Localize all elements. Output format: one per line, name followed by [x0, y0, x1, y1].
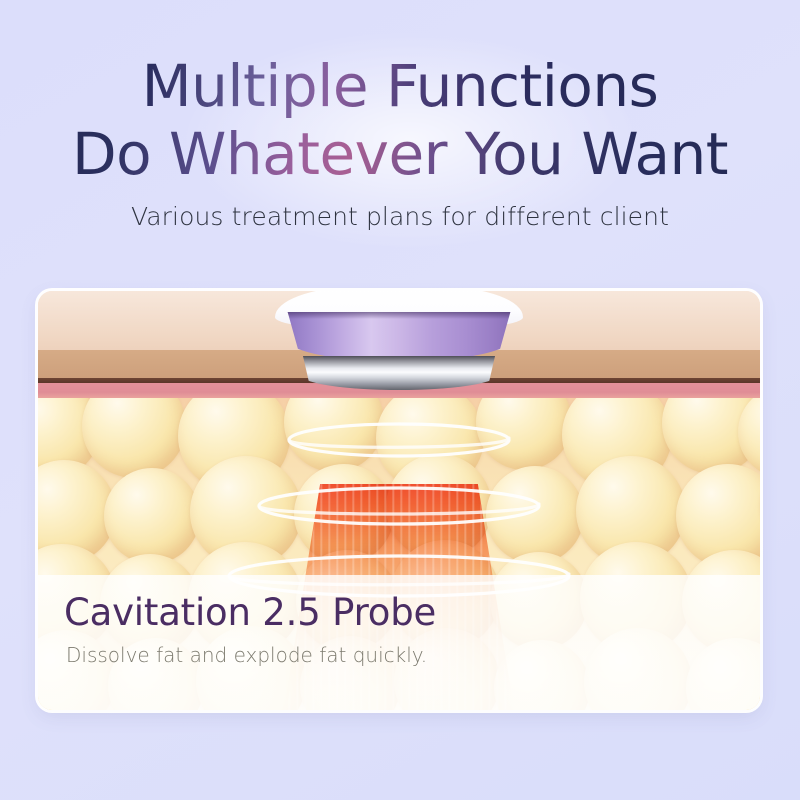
cavitation-probe-device: [275, 291, 523, 390]
probe-metal-ring: [301, 356, 497, 390]
header: Multiple Functions Do Whatever You Want …: [0, 52, 800, 231]
caption-subtitle: Dissolve fat and explode fat quickly.: [66, 643, 760, 667]
card-caption: Cavitation 2.5 Probe Dissolve fat and ex…: [38, 575, 760, 710]
caption-title: Cavitation 2.5 Probe: [64, 591, 760, 634]
product-feature-poster: Multiple Functions Do Whatever You Want …: [0, 0, 800, 800]
header-subtitle: Various treatment plans for different cl…: [0, 202, 800, 231]
headline-line-2: Do Whatever You Want: [0, 120, 800, 188]
feature-card: Cavitation 2.5 Probe Dissolve fat and ex…: [38, 291, 760, 710]
headline-line-1: Multiple Functions: [0, 52, 800, 120]
probe-body-purple: [283, 312, 515, 362]
